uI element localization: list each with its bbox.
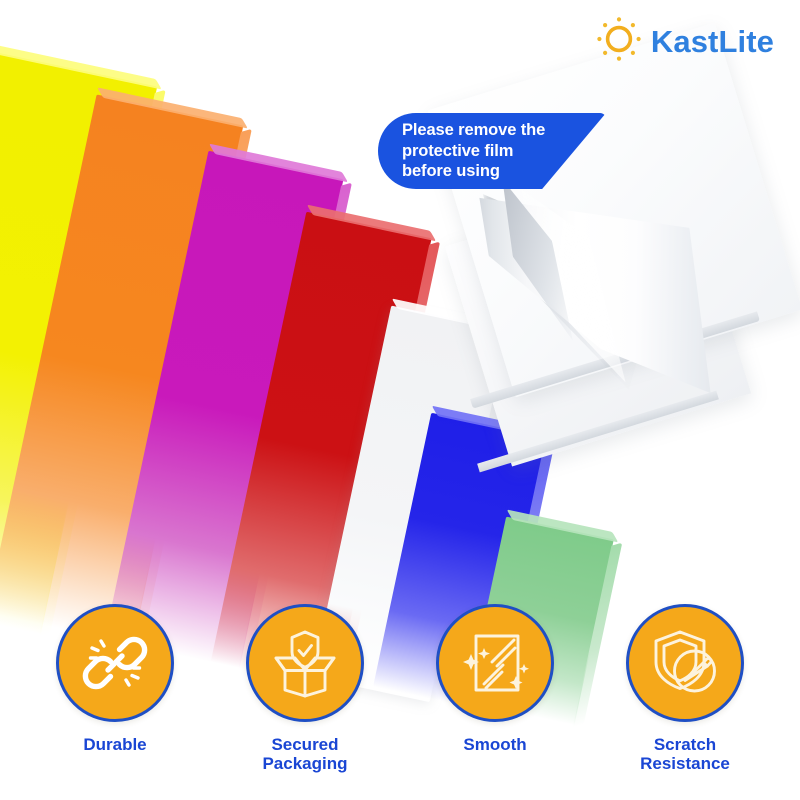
feature-scratch-resistance[interactable]: Scratch Resistance xyxy=(620,604,750,774)
badge-circle[interactable] xyxy=(436,604,554,722)
feature-label: Durable xyxy=(83,735,146,755)
feature-secured-packaging[interactable]: Secured Packaging xyxy=(240,604,370,774)
badge-circle[interactable] xyxy=(246,604,364,722)
feature-label: Secured Packaging xyxy=(262,735,347,774)
brand-name: KastLite xyxy=(651,24,774,60)
shield-blade-icon xyxy=(648,626,722,700)
sparkling-panel-icon xyxy=(458,626,532,700)
feature-smooth[interactable]: Smooth xyxy=(430,604,560,755)
feature-label: Scratch Resistance xyxy=(640,735,730,774)
shielded-box-icon xyxy=(268,626,342,700)
feature-badge-row: Durable xyxy=(0,604,800,774)
chain-link-icon xyxy=(79,627,151,699)
product-image-canvas: KastLite Please remove the protective fi… xyxy=(0,0,800,800)
sun-icon xyxy=(596,16,642,67)
brand-logo: KastLite xyxy=(596,16,774,67)
feature-durable[interactable]: Durable xyxy=(50,604,180,755)
callout-text: Please remove the protective film before… xyxy=(402,120,545,183)
feature-label: Smooth xyxy=(463,735,526,755)
badge-circle[interactable] xyxy=(56,604,174,722)
badge-circle[interactable] xyxy=(626,604,744,722)
